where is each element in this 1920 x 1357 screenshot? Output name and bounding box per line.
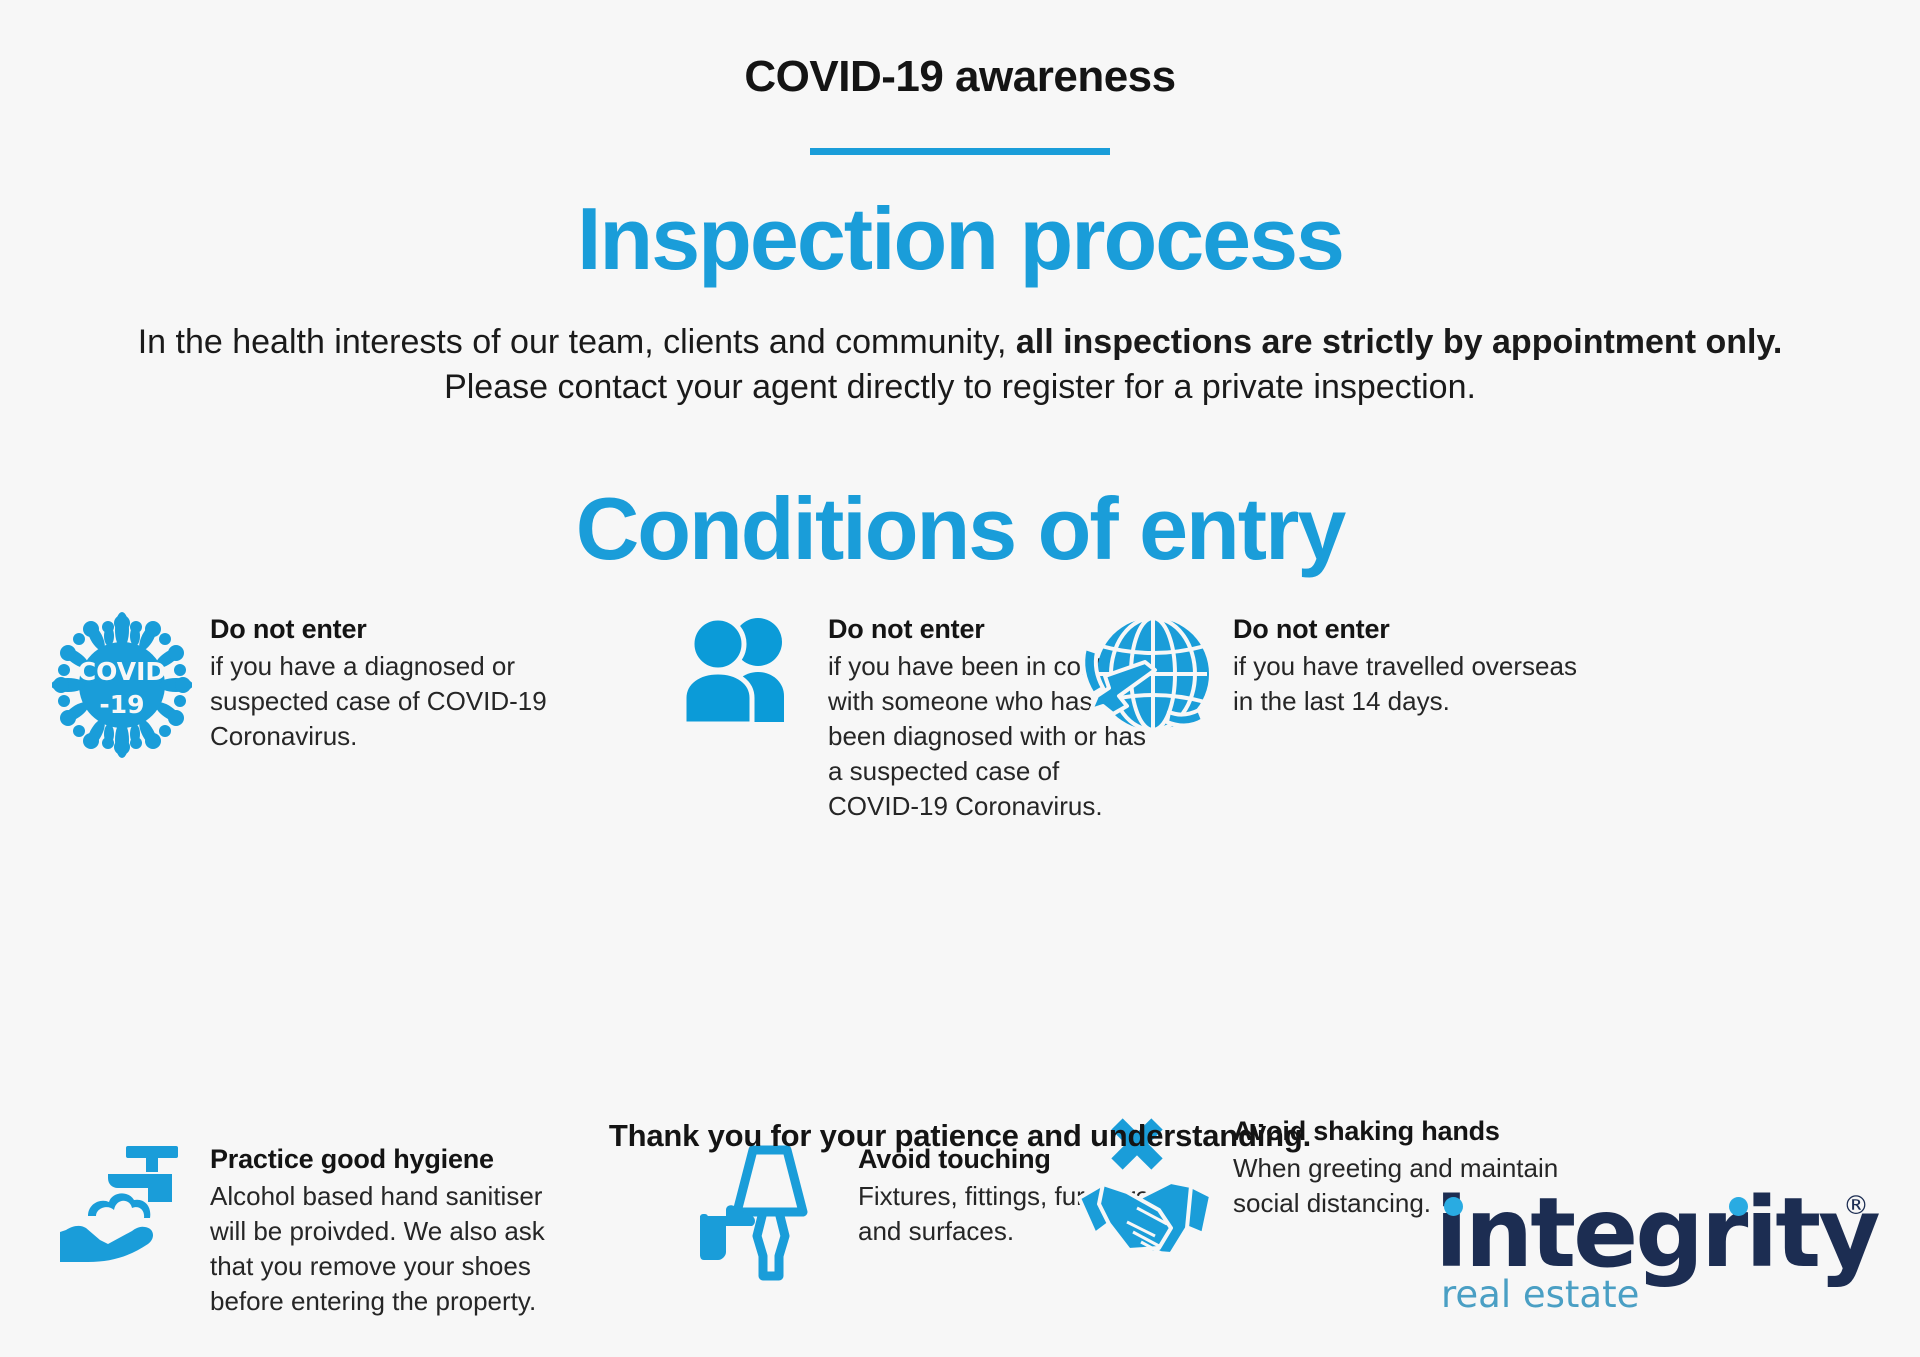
icon-container — [680, 610, 810, 730]
heading-conditions-of-entry: Conditions of entry — [0, 478, 1920, 580]
condition-card-overseas-travel: Do not enter if you have travelled overs… — [1075, 610, 1585, 738]
logo-dot-i1 — [1444, 1197, 1463, 1216]
covid-icon-label-line1: COVID — [78, 657, 166, 686]
title-divider — [810, 148, 1110, 155]
globe-airplane-icon — [1075, 610, 1215, 738]
hand-washing-tap-icon — [52, 1140, 192, 1280]
heading-inspection-process: Inspection process — [0, 188, 1920, 290]
card-title: Do not enter — [1233, 612, 1585, 647]
icon-container — [52, 1140, 192, 1280]
two-people-icon — [680, 610, 810, 730]
logo-tagline: real estate — [1441, 1273, 1639, 1316]
icon-container — [1075, 610, 1215, 738]
condition-card-covid-case: COVID -19 Do not enter if you have a dia… — [52, 610, 552, 760]
logo-dot-i2 — [1729, 1197, 1748, 1216]
page-kicker: COVID-19 awareness — [0, 52, 1920, 102]
pointing-finger-lamp-icon — [700, 1140, 840, 1285]
thanks-message: Thank you for your patience and understa… — [0, 1118, 1920, 1154]
card-body: Alcohol based hand sanitiser will be pro… — [210, 1179, 572, 1319]
intro-paragraph: In the health interests of our team, cli… — [125, 320, 1795, 410]
covid-awareness-poster: COVID-19 awareness Inspection process In… — [0, 0, 1920, 1357]
logo-wordmark: integrity® — [1435, 1185, 1865, 1281]
card-title: Do not enter — [210, 612, 552, 647]
intro-text-part2: Please contact your agent directly to re… — [444, 368, 1476, 406]
intro-text-part1: In the health interests of our team, cli… — [138, 323, 1016, 361]
card-text: Do not enter if you have travelled overs… — [1233, 610, 1585, 719]
conditions-row-1: COVID -19 Do not enter if you have a dia… — [0, 610, 1920, 870]
condition-card-good-hygiene: Practice good hygiene Alcohol based hand… — [52, 1140, 572, 1319]
registered-trademark-icon: ® — [1843, 1193, 1869, 1219]
intro-text-bold: all inspections are strictly by appointm… — [1016, 323, 1782, 361]
card-text: Practice good hygiene Alcohol based hand… — [210, 1140, 572, 1319]
covid-virus-icon: COVID -19 — [52, 610, 192, 760]
icon-container: COVID -19 — [52, 610, 192, 760]
card-text: Do not enter if you have a diagnosed or … — [210, 610, 552, 754]
icon-container — [700, 1140, 840, 1285]
card-body: if you have a diagnosed or suspected cas… — [210, 649, 552, 754]
card-body: if you have travelled overseas in the la… — [1233, 649, 1585, 719]
conditions-grid: COVID -19 Do not enter if you have a dia… — [0, 610, 1920, 1100]
conditions-row-2: Practice good hygiene Alcohol based hand… — [0, 890, 1920, 1120]
integrity-real-estate-logo: integrity® real estate — [1435, 1185, 1865, 1325]
covid-icon-label-line2: -19 — [99, 690, 144, 719]
